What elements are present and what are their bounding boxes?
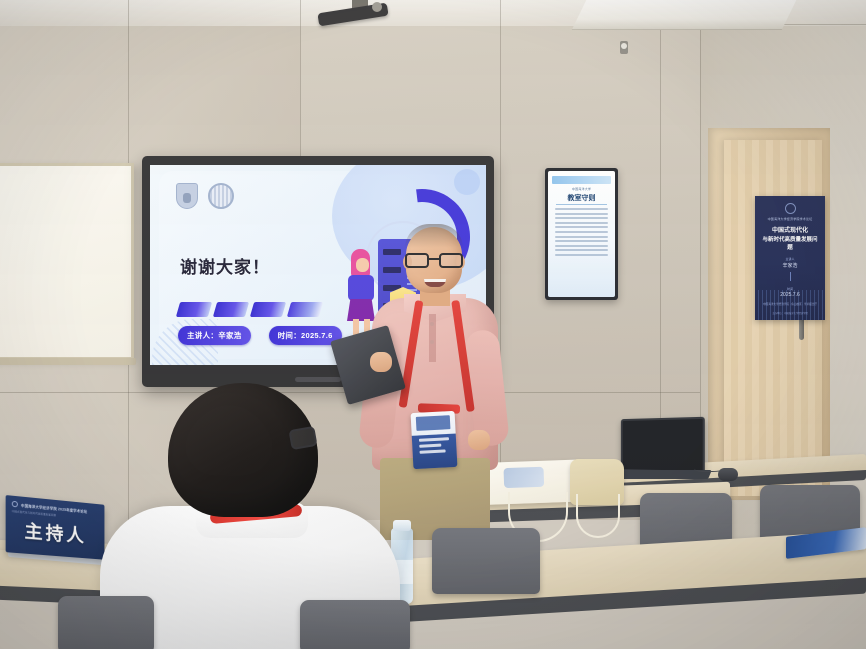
poster-title-line2: 与新时代高质量发展问题 [760, 235, 820, 251]
poster-footer: 主办单位：中国海洋大学经济学院 [760, 312, 820, 316]
name-badge [411, 411, 458, 469]
notice-header-band [552, 176, 611, 184]
whiteboard-tray [0, 358, 136, 365]
chair[interactable] [58, 596, 154, 649]
audience-member-head [168, 383, 318, 517]
bag-handle [576, 494, 620, 538]
chair[interactable] [300, 600, 410, 649]
slide-logos [176, 183, 234, 209]
slide-presenter-pill: 主讲人：辛家浩 [178, 326, 251, 345]
poster-speaker-label: 主讲人 [760, 257, 820, 261]
poster-venue: 中国海洋大学经济学院 · 鱼山校区 · 学术报告厅 [760, 303, 820, 307]
slide-bar-decoration [178, 302, 321, 317]
notice-rule-lines [552, 208, 611, 256]
name-card-seal-icon [12, 501, 18, 508]
whiteboard [0, 163, 134, 360]
poster-time-value: 2025.7.6 [760, 292, 820, 298]
poster-seal-icon [785, 203, 796, 214]
notice-title: 教室守则 [552, 193, 611, 203]
computer-mouse[interactable] [718, 468, 738, 481]
wall-notice-display: 中国海洋大学 教室守则 [545, 168, 618, 300]
poster-divider [790, 272, 791, 281]
name-card-role: 主持人 [12, 515, 99, 548]
chair[interactable] [432, 528, 540, 594]
presenter-hand-right [468, 430, 490, 450]
laptop[interactable] [621, 417, 705, 473]
poster-org: 中国海洋大学经济学院学术论坛 [760, 217, 820, 221]
laptop-keyboard[interactable] [612, 470, 712, 479]
university-crest-icon [176, 183, 198, 209]
door-poster: 中国海洋大学经济学院学术论坛 中国式现代化 与新时代高质量发展问题 主讲人 辛家… [755, 196, 825, 320]
poster-speaker-value: 辛家浩 [760, 262, 820, 269]
university-seal-icon [208, 183, 234, 209]
shirt-button [430, 340, 434, 344]
presenter-hand-left [370, 352, 392, 372]
wall-panel-seam [300, 0, 301, 160]
poster-time-label: 时间 [760, 287, 820, 291]
wall-sensor-icon [620, 41, 628, 54]
poster-title-line1: 中国式现代化 [760, 225, 820, 234]
notice-org: 中国海洋大学 [552, 187, 611, 191]
host-name-card: 中国海洋大学经济学院 2025年度学术论坛 中国式现代化与新时代高质量发展问题 … [6, 495, 105, 560]
shirt-button [430, 322, 434, 326]
eyeglasses-icon [404, 253, 464, 268]
bottle-cap [393, 520, 411, 531]
ceiling-light [572, 0, 799, 30]
slide-title: 谢谢大家！ [180, 253, 270, 278]
notice-divider [556, 204, 607, 205]
conference-room-photo: 谢谢大家！ 主讲人：辛家浩 时间：2025.7.6 中国海洋大学 教室守则 [0, 0, 866, 649]
slide-dot-decoration [454, 169, 480, 195]
slide-info-pills: 主讲人：辛家浩 时间：2025.7.6 [178, 326, 342, 345]
projector-knob [372, 2, 382, 12]
